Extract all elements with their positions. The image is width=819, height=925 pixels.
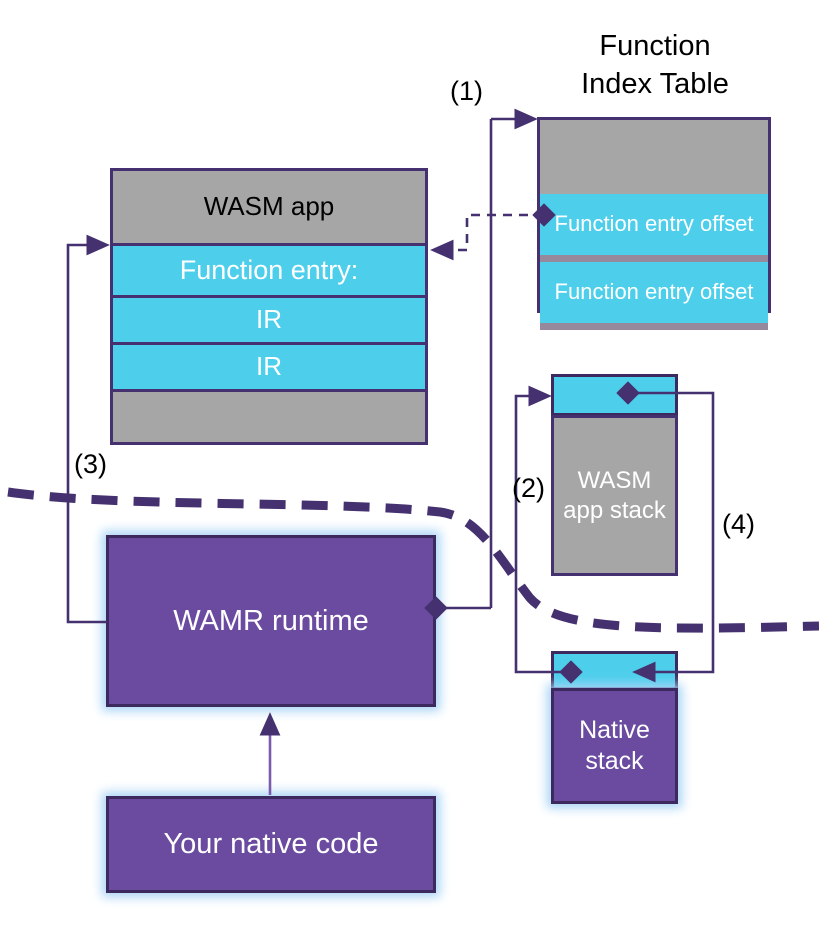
fit-row-0-label: Function entry offset: [555, 212, 754, 237]
fit-title-line-2: Index Table: [520, 66, 790, 104]
step-label-4: (4): [722, 509, 755, 540]
your-native-code-box[interactable]: Your native code: [106, 796, 436, 893]
your-native-code-label: Your native code: [164, 829, 379, 859]
diagram-canvas: Function Index Table Function entry offs…: [0, 0, 819, 925]
native-stack-label-1: Native: [579, 715, 650, 746]
native-stack-box[interactable]: Native stack: [551, 688, 678, 804]
step-label-3: (3): [74, 449, 107, 480]
wamr-runtime-box[interactable]: WAMR runtime: [106, 535, 436, 707]
wamr-runtime-label: WAMR runtime: [173, 606, 369, 636]
ir-label-2: IR: [256, 353, 282, 380]
function-entry-label: Function entry:: [180, 256, 359, 284]
function-index-table-box[interactable]: Function entry offset Function entry off…: [537, 117, 771, 313]
wasm-app-box[interactable]: WASM app Function entry: IR IR: [110, 168, 428, 445]
wasm-app-stack-top-slot[interactable]: [551, 374, 678, 416]
wasm-app-function-entry-band[interactable]: Function entry:: [113, 243, 425, 295]
wasm-app-stack-box[interactable]: WASM app stack: [551, 415, 678, 576]
wasm-app-stack-label-2: app stack: [563, 496, 666, 526]
wasm-app-footer-band: [113, 389, 425, 442]
wasm-app-ir-band-2[interactable]: IR: [113, 342, 425, 389]
connector-3: [68, 245, 107, 622]
step-label-1: (1): [450, 76, 483, 107]
fit-title-line-1: Function: [520, 28, 790, 66]
wasm-app-header-band: WASM app: [113, 171, 425, 243]
native-stack-label-2: stack: [579, 746, 650, 777]
fit-row-1-label: Function entry offset: [555, 280, 754, 305]
ir-label-1: IR: [256, 306, 282, 333]
wasm-app-stack-label-1: WASM: [563, 466, 666, 496]
native-stack-top-slot[interactable]: [551, 651, 678, 690]
connector-offset-dashed: [434, 215, 544, 250]
fit-gray-header: [540, 120, 768, 194]
fit-row-1[interactable]: Function entry offset: [540, 262, 768, 330]
fit-row-0[interactable]: Function entry offset: [540, 194, 768, 262]
function-index-table-title: Function Index Table: [520, 28, 790, 103]
wasm-app-label: WASM app: [204, 193, 335, 220]
step-label-2: (2): [512, 473, 545, 504]
wasm-app-ir-band-1[interactable]: IR: [113, 295, 425, 342]
